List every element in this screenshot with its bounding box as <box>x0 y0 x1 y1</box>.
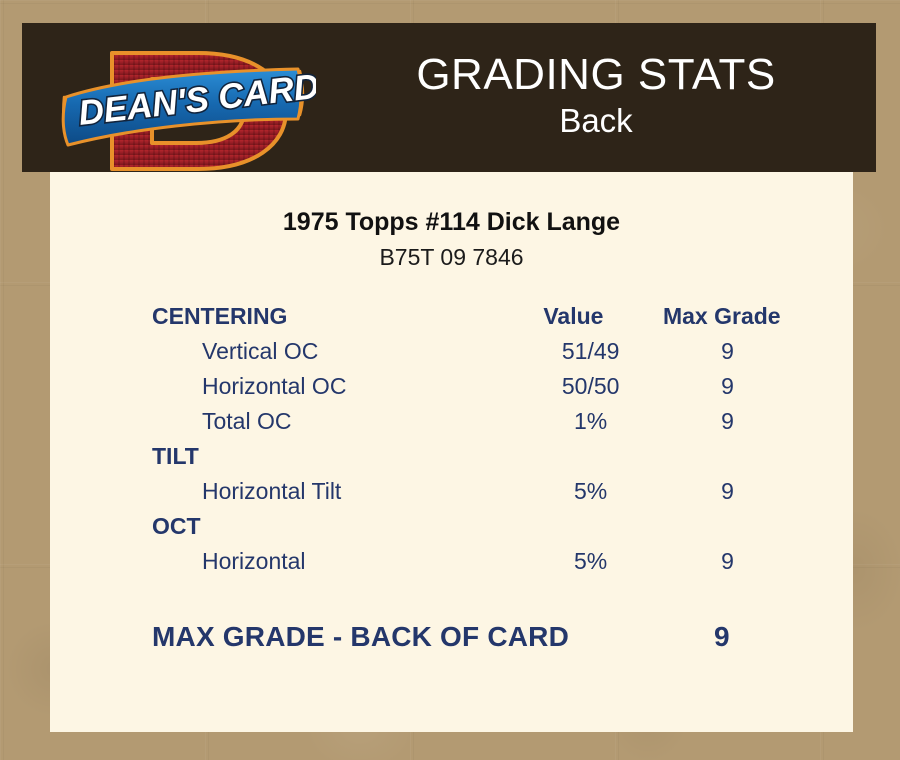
table-row: Total OC 1% 9 <box>152 408 795 443</box>
section-row-tilt: TILT <box>152 443 795 478</box>
card-serial-number: B75T 09 7846 <box>50 242 853 273</box>
page-title: GRADING STATS <box>416 50 775 100</box>
row-label: Horizontal Tilt <box>152 478 521 505</box>
max-grade-value: 9 <box>649 621 795 653</box>
row-value: 5% <box>521 548 660 575</box>
row-value: 5% <box>521 478 660 505</box>
row-label: Total OC <box>152 408 521 435</box>
header-bar: DEAN'S CARDS GRADING STATS Back <box>22 23 876 172</box>
max-grade-summary-row: MAX GRADE - BACK OF CARD 9 <box>50 621 853 653</box>
table-row: Horizontal 5% 9 <box>152 548 795 583</box>
row-label: Horizontal OC <box>152 373 521 400</box>
row-max-grade: 9 <box>660 408 795 435</box>
section-header-oct: OCT <box>152 513 498 540</box>
row-max-grade: 9 <box>660 478 795 505</box>
table-header-row: CENTERING Value Max Grade <box>152 303 795 338</box>
max-grade-label: MAX GRADE - BACK OF CARD <box>152 621 649 653</box>
deans-cards-logo[interactable]: DEAN'S CARDS <box>48 25 316 171</box>
row-label: Horizontal <box>152 548 521 575</box>
row-label: Vertical OC <box>152 338 521 365</box>
section-header-tilt: TILT <box>152 443 498 470</box>
column-header-value: Value <box>498 303 648 330</box>
row-max-grade: 9 <box>660 373 795 400</box>
table-row: Horizontal OC 50/50 9 <box>152 373 795 408</box>
section-header-centering: CENTERING <box>152 303 498 330</box>
row-max-grade: 9 <box>660 338 795 365</box>
card-title: 1975 Topps #114 Dick Lange <box>50 206 853 238</box>
row-value: 1% <box>521 408 660 435</box>
header-titles: GRADING STATS Back <box>316 23 876 172</box>
grading-stats-table: CENTERING Value Max Grade Vertical OC 51… <box>50 303 853 583</box>
row-value: 50/50 <box>521 373 660 400</box>
table-row: Horizontal Tilt 5% 9 <box>152 478 795 513</box>
column-header-max-grade: Max Grade <box>649 303 795 330</box>
section-row-oct: OCT <box>152 513 795 548</box>
row-max-grade: 9 <box>660 548 795 575</box>
row-value: 51/49 <box>521 338 660 365</box>
table-row: Vertical OC 51/49 9 <box>152 338 795 373</box>
content-panel: 1975 Topps #114 Dick Lange B75T 09 7846 … <box>50 172 853 732</box>
page-subtitle: Back <box>559 101 632 141</box>
